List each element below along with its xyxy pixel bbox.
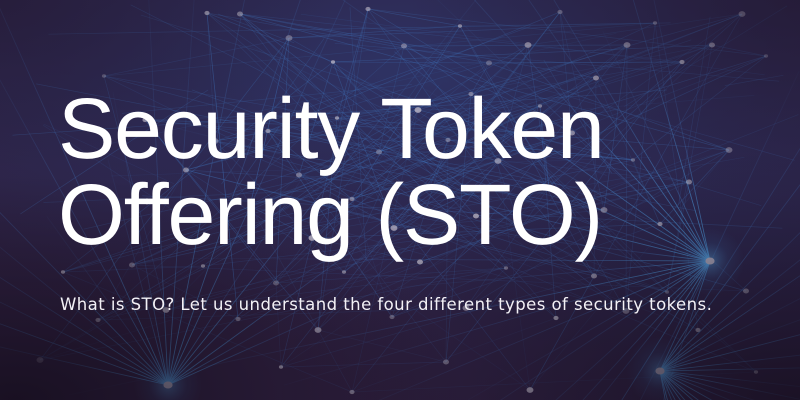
banner-content: Security Token Offering (STO) What is ST… [0,0,800,400]
sto-banner: Security Token Offering (STO) What is ST… [0,0,800,400]
page-subtitle: What is STO? Let us understand the four … [60,294,712,316]
page-title: Security Token Offering (STO) [58,86,758,258]
